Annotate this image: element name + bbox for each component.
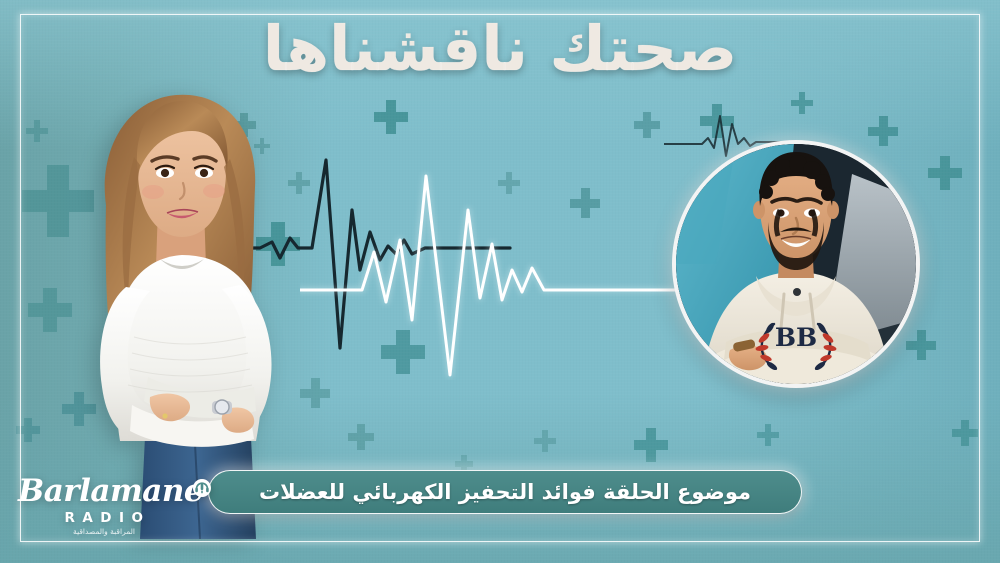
svg-text:BB: BB — [775, 323, 817, 352]
microphone-headset-icon — [192, 478, 212, 498]
episode-topic-banner: موضوع الحلقة فوائد التحفيز الكهربائي للع… — [208, 470, 802, 514]
broadcast-graphic-canvas: صحتك ناقشناها — [0, 0, 1000, 563]
guest-man-circular-photo: BB — [672, 140, 920, 388]
program-title: صحتك ناقشناها — [0, 18, 1000, 80]
barlamane-radio-logo[interactable]: Barlamane RADIO المراقبة والمصداقية — [18, 476, 190, 540]
logo-arabic-sublabel: المراقبة والمصداقية — [18, 527, 190, 536]
logo-wordmark: Barlamane — [18, 476, 203, 507]
episode-topic-text: موضوع الحلقة فوائد التحفيز الكهربائي للع… — [259, 480, 751, 504]
logo-radio-label: RADIO — [18, 510, 190, 526]
